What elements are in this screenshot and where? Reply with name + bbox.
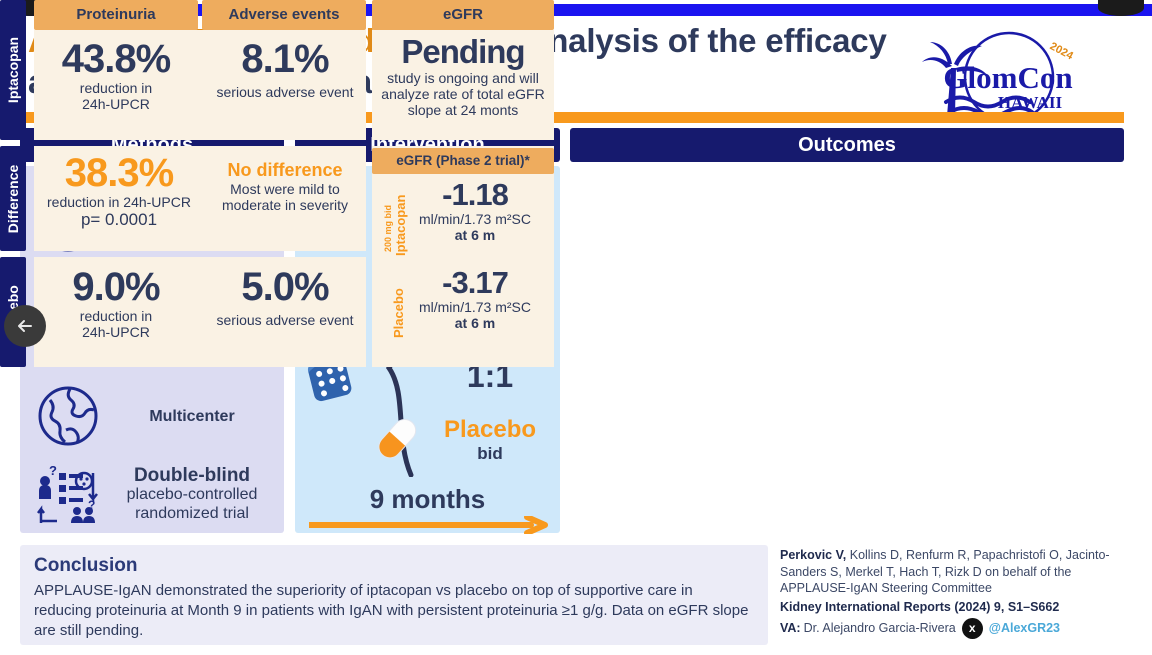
value-iptacopan-egfr: Pending: [374, 34, 552, 70]
conclusion-heading: Conclusion: [34, 555, 754, 577]
cell-placebo-adverse: 5.0% serious adverse event: [200, 266, 370, 328]
value-egfr-iptacopan: -1.18: [400, 178, 550, 211]
va-name: Dr. Alejandro Garcia-Rivera: [804, 620, 956, 637]
conclusion-text: APPLAUSE-IgAN demonstrated the superiori…: [34, 581, 754, 641]
value-difference-proteinuria: 38.3%: [34, 152, 204, 194]
glomcon-logo: GlomCon HAWAII 2024: [900, 30, 1118, 124]
design-title: Double-blind: [108, 466, 276, 485]
cell-placebo-proteinuria: 9.0% reduction in 24h-UPCR: [34, 266, 198, 340]
study-duration: 9 months: [295, 484, 560, 515]
value-egfr-placebo: -3.17: [400, 266, 550, 299]
capsule-icon: [373, 414, 429, 470]
egfr-row-label-placebo: Placebo: [376, 266, 396, 342]
sub-iptacopan-proteinuria-1: reduction in: [34, 80, 198, 96]
sub-placebo-proteinuria-2: 24h-UPCR: [34, 324, 198, 340]
cell-iptacopan-adverse: 8.1% serious adverse event: [200, 38, 370, 100]
col-header-proteinuria: Proteinuria: [34, 0, 198, 30]
citation-journal: Kidney International Reports (2024) 9, S…: [780, 599, 1136, 616]
citation-authors: Perkovic V, Kollins D, Renfurm R, Papach…: [780, 547, 1136, 597]
svg-text:?: ?: [49, 463, 57, 478]
cell-iptacopan-egfr: Pending study is ongoing and will analyz…: [374, 34, 552, 118]
outcomes-panel: Iptacopan Difference Placebo Proteinuria…: [0, 0, 554, 367]
conclusion-panel: Conclusion APPLAUSE-IgAN demonstrated th…: [20, 545, 768, 645]
egfr-row-placebo: -3.17 ml/min/1.73 m²SC at 6 m: [400, 266, 550, 331]
arrow-right-icon: [309, 516, 549, 534]
cell-difference-proteinuria: 38.3% reduction in 24h-UPCR p= 0.0001: [34, 152, 204, 228]
back-button[interactable]: [4, 305, 46, 347]
methods-item-multicenter: Multicenter: [28, 378, 276, 454]
citation-first-author: Perkovic V,: [780, 548, 846, 562]
methods-item-multicenter-text: Multicenter: [108, 407, 276, 426]
outcomes-heading: Outcomes: [570, 128, 1124, 162]
time-egfr-placebo: at 6 m: [400, 315, 550, 331]
slide-canvas: APPLAUSE-IgAN Study: Interim analysis of…: [0, 0, 1152, 655]
unit-egfr-iptacopan: ml/min/1.73 m²SC: [400, 211, 550, 227]
egfr-row-iptacopan: -1.18 ml/min/1.73 m²SC at 6 m: [400, 178, 550, 243]
clipboard-survey-icon: ? ?: [28, 463, 108, 525]
sub-iptacopan-egfr: study is ongoing and will analyze rate o…: [374, 70, 552, 118]
row-label-difference: Difference: [0, 146, 26, 251]
visual-abstract-author-row: VA: Dr. Alejandro Garcia-Rivera x @AlexG…: [780, 618, 1136, 639]
egfr-phase2-header: eGFR (Phase 2 trial)*: [372, 148, 554, 174]
sub-difference-proteinuria-1: reduction in 24h-UPCR: [34, 194, 204, 210]
topbar-cap-right: [1098, 0, 1144, 16]
unit-egfr-placebo: ml/min/1.73 m²SC: [400, 299, 550, 315]
methods-item-design: ? ?: [28, 458, 276, 530]
sub-iptacopan-proteinuria-2: 24h-UPCR: [34, 96, 198, 112]
arm-placebo-name: Placebo: [425, 416, 555, 444]
time-egfr-iptacopan: at 6 m: [400, 227, 550, 243]
design-line3: randomized trial: [108, 504, 276, 523]
logo-wordmark: GlomCon: [943, 60, 1072, 95]
cell-iptacopan-proteinuria: 43.8% reduction in 24h-UPCR: [34, 38, 198, 112]
row-label-iptacopan: Iptacopan: [0, 0, 26, 140]
globe-icon: [28, 384, 108, 448]
methods-item-design-text: Double-blind placebo-controlled randomiz…: [108, 466, 276, 523]
egfr-row-label-iptacopan: Iptacopan 200 mg bid: [376, 180, 396, 256]
logo-subtitle: HAWAII: [998, 93, 1063, 112]
x-handle[interactable]: @AlexGR23: [989, 621, 1060, 635]
col-header-adverse-events: Adverse events: [202, 0, 366, 30]
x-logo-icon[interactable]: x: [962, 618, 983, 639]
value-iptacopan-adverse: 8.1%: [200, 38, 370, 80]
sub-placebo-proteinuria-1: reduction in: [34, 308, 198, 324]
sub-difference-pvalue: p= 0.0001: [34, 212, 204, 228]
design-line2: placebo-controlled: [108, 485, 276, 504]
va-label: VA:: [780, 620, 801, 637]
sub-placebo-adverse: serious adverse event: [200, 312, 370, 328]
citation-block: Perkovic V, Kollins D, Renfurm R, Papach…: [780, 547, 1136, 647]
value-iptacopan-proteinuria: 43.8%: [34, 38, 198, 80]
value-difference-adverse: No difference: [202, 160, 368, 181]
arm-placebo-dose: bid: [425, 444, 555, 464]
sub-difference-adverse-2: moderate in severity: [202, 197, 368, 213]
sub-iptacopan-adverse: serious adverse event: [200, 84, 370, 100]
col-header-egfr: eGFR: [372, 0, 554, 30]
cell-difference-adverse: No difference Most were mild to moderate…: [202, 160, 368, 213]
value-placebo-adverse: 5.0%: [200, 266, 370, 308]
arrow-left-icon: [15, 316, 35, 336]
arm-placebo: Placebo bid: [425, 416, 555, 464]
sub-difference-adverse-1: Most were mild to: [202, 181, 368, 197]
value-placebo-proteinuria: 9.0%: [34, 266, 198, 308]
